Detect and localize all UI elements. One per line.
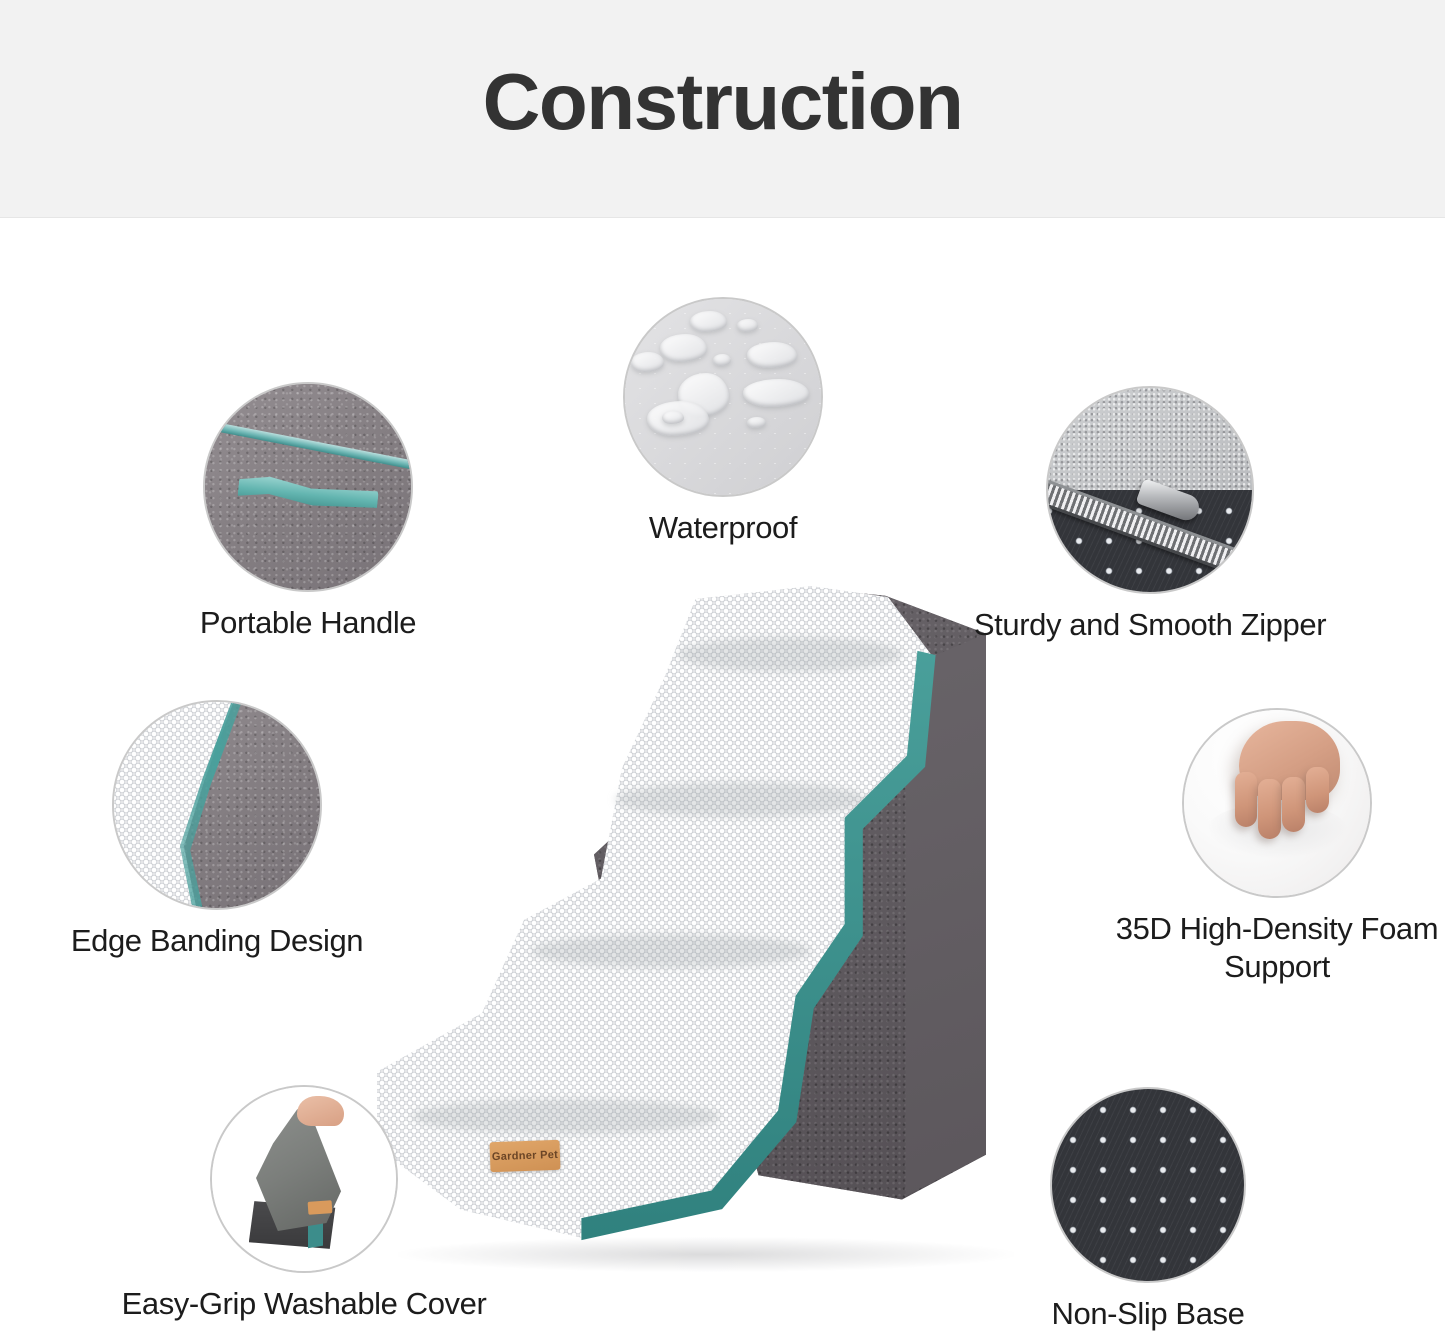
sturdy-zipper-icon (1046, 386, 1254, 594)
step-crease-2 (615, 782, 867, 817)
feature-caption: Non-Slip Base (1052, 1295, 1245, 1333)
water-droplet (660, 334, 707, 361)
feature-caption: Sturdy and Smooth Zipper (974, 606, 1326, 644)
product-ground-shadow (398, 1237, 1014, 1272)
water-droplet (747, 342, 798, 367)
feature-non-slip-base: Non-Slip Base (1050, 1087, 1246, 1283)
product-illustration: Gardner Pet (370, 575, 1070, 1265)
portable-handle-icon (203, 382, 413, 592)
hand-pressing (1232, 721, 1340, 836)
brand-tag-label: Gardner Pet (492, 1149, 559, 1163)
feature-caption: Easy-Grip Washable Cover (122, 1285, 487, 1323)
feature-washable-cover: Easy-Grip Washable Cover (210, 1085, 398, 1273)
feature-waterproof: Waterproof (623, 297, 823, 497)
header-band: Construction (0, 0, 1445, 218)
water-droplet (631, 352, 664, 372)
infographic-page: Construction Gardner Pet Portable Handle (0, 0, 1445, 1335)
feature-portable-handle: Portable Handle (203, 382, 413, 592)
feature-caption: Waterproof (649, 509, 797, 547)
page-title: Construction (0, 62, 1445, 142)
finger (1306, 767, 1330, 813)
foam-support-icon (1182, 708, 1372, 898)
finger (1282, 777, 1305, 832)
brand-tag: Gardner Pet (490, 1140, 561, 1173)
water-droplet (743, 379, 810, 406)
step-crease-1 (678, 637, 902, 672)
feature-foam-support: 35D High-Density Foam Support (1182, 708, 1372, 898)
feature-caption: 35D High-Density Foam Support (1112, 910, 1442, 986)
step-crease-3 (531, 934, 811, 969)
feature-caption: Edge Banding Design (71, 922, 363, 960)
step-crease-4 (412, 1099, 720, 1134)
feature-sturdy-zipper: Sturdy and Smooth Zipper (1046, 386, 1254, 594)
cover-brand-tag (307, 1200, 332, 1215)
washable-cover-icon (210, 1085, 398, 1273)
edge-banding-icon (112, 700, 322, 910)
feature-caption: Portable Handle (200, 604, 416, 642)
non-slip-base-icon (1050, 1087, 1246, 1283)
waterproof-icon (623, 297, 823, 497)
feature-edge-banding: Edge Banding Design (112, 700, 322, 910)
finger (1235, 772, 1258, 827)
hand-gripping-cover (297, 1096, 345, 1125)
water-droplet (713, 354, 731, 366)
gray-fabric-texture (205, 384, 411, 590)
finger (1258, 779, 1281, 839)
dotted-rubber-texture (1052, 1089, 1244, 1281)
